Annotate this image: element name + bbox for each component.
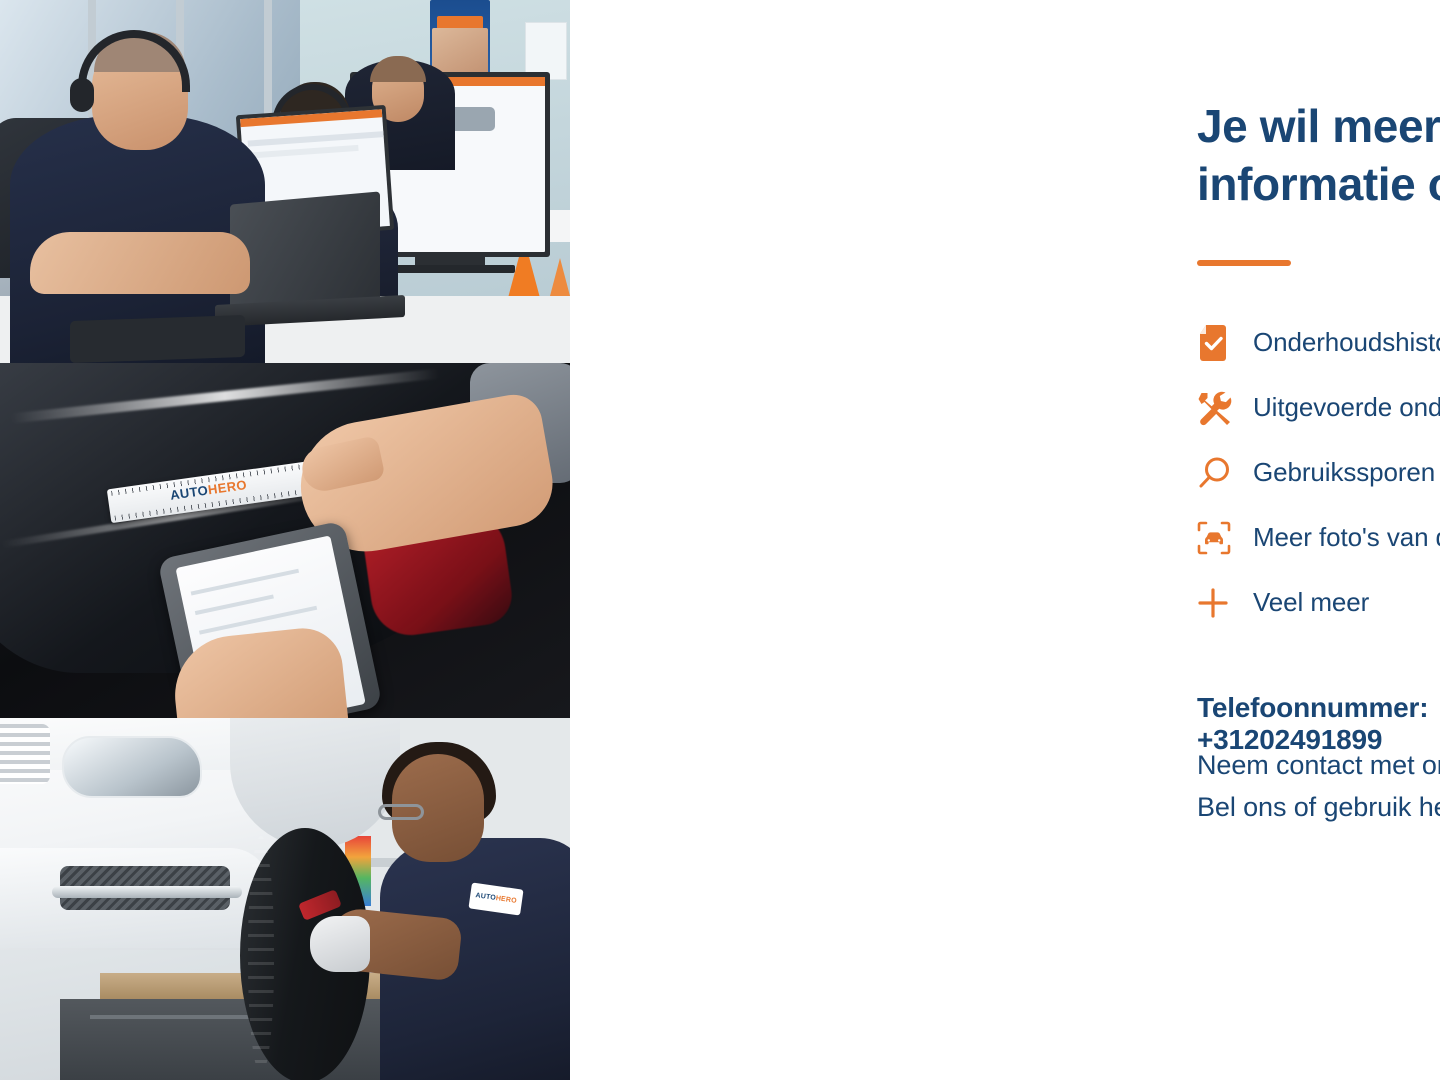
- promo-page: AUTOHERO: [0, 0, 1440, 1080]
- feature-label: Meer foto's van de auto: [1253, 523, 1440, 552]
- title-underline-rule: [1197, 260, 1291, 266]
- photo-column: AUTOHERO: [0, 0, 570, 1080]
- badge-brand-auto: AUTO: [475, 892, 496, 902]
- feature-label: Onderhoudshistorie: [1253, 328, 1440, 357]
- feature-list: Onderhoudshistorie Uitgevoerde onderhoud…: [1197, 310, 1440, 635]
- plus-icon: [1197, 587, 1253, 619]
- technician-glasses: [378, 804, 424, 820]
- wheel-inspection-photo: AUTOHERO: [0, 718, 570, 1080]
- contact-text: Neem contact met ons op voor meer inform…: [1197, 745, 1440, 829]
- contact-line-2: Bel ons of gebruik het contactformulier.: [1197, 787, 1440, 829]
- page-title: Je wil meer informatie over:: [1197, 98, 1440, 213]
- wrench-screwdriver-icon: [1197, 390, 1253, 426]
- car-grille: [0, 724, 50, 784]
- feature-label: Uitgevoerde onderhoudswerkzaamheden: [1253, 393, 1440, 422]
- feature-item-onderhoudswerkzaamheden: Uitgevoerde onderhoudswerkzaamheden: [1197, 375, 1440, 440]
- headline-line-1: Je wil meer: [1197, 100, 1440, 152]
- monitor-base: [390, 265, 515, 273]
- magnifier-icon: [1197, 456, 1253, 490]
- badge-brand-hero: HERO: [495, 895, 517, 905]
- feature-item-veel-meer: Veel meer: [1197, 570, 1440, 635]
- car-scan-icon: [1197, 521, 1253, 555]
- feature-item-gebruikssporen: Gebruikssporen: [1197, 440, 1440, 505]
- feature-label: Gebruikssporen: [1253, 458, 1435, 487]
- desk-tablet: [70, 315, 245, 363]
- headset-earcup: [70, 78, 94, 112]
- headline-line-2: informatie over:: [1197, 156, 1440, 214]
- chrome-trim: [52, 886, 242, 898]
- car-inspection-ruler-photo: AUTOHERO: [0, 363, 570, 718]
- contact-line-1: Neem contact met ons op voor meer inform…: [1197, 745, 1440, 787]
- feature-item-meer-fotos: Meer foto's van de auto: [1197, 505, 1440, 570]
- work-glove: [310, 916, 370, 972]
- content-panel: Je wil meer informatie over: We geven je…: [570, 0, 1440, 1080]
- tire-tread: [248, 836, 274, 1074]
- document-check-icon: [1197, 325, 1253, 361]
- feature-label: Veel meer: [1253, 588, 1369, 617]
- agent-arms: [30, 232, 250, 294]
- call-center-agents-photo: [0, 0, 570, 363]
- feature-item-onderhoudshistorie: Onderhoudshistorie: [1197, 310, 1440, 375]
- car-headlight: [62, 736, 202, 798]
